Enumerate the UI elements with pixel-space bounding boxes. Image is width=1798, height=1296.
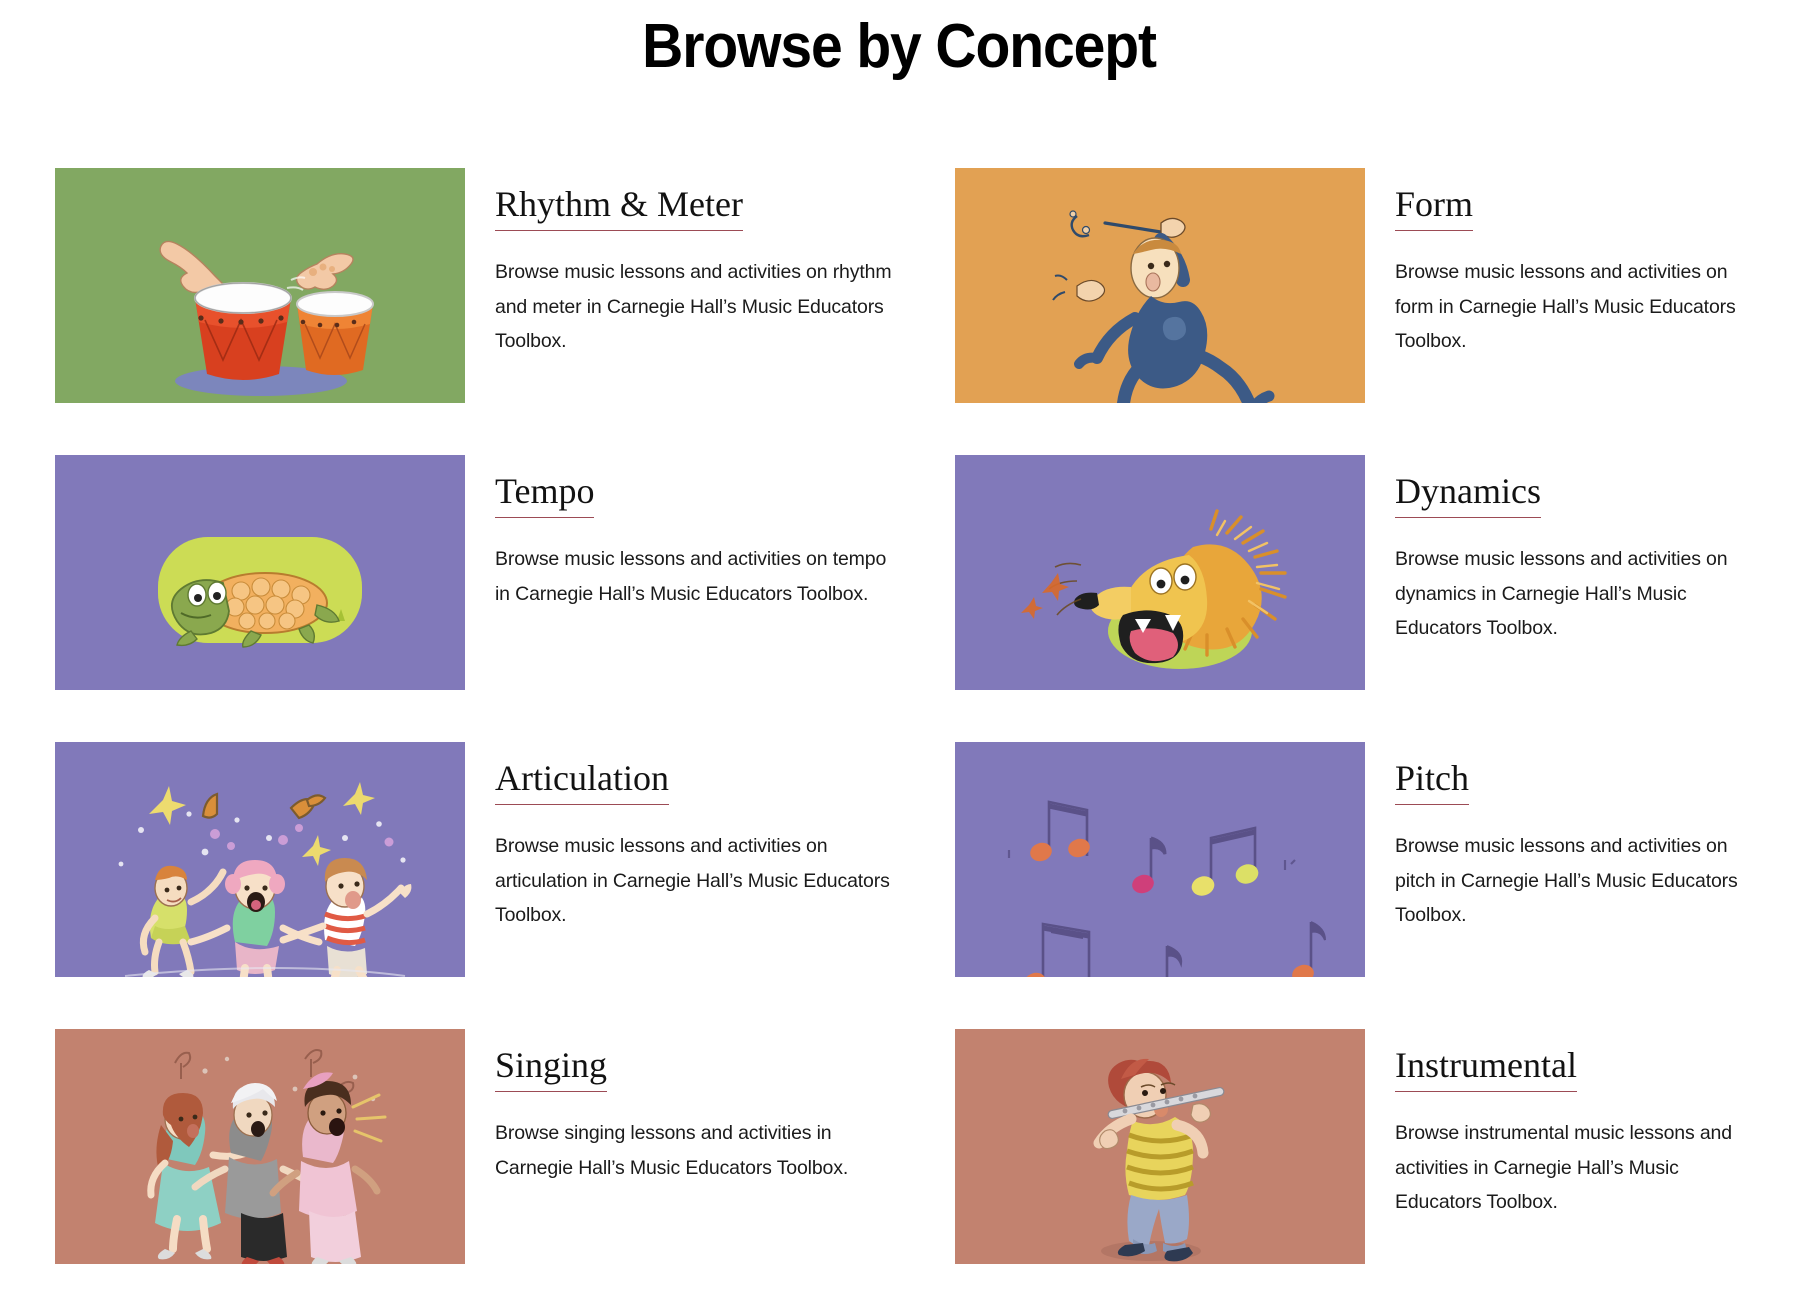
concept-description-articulation: Browse music lessons and activities on a… xyxy=(495,829,905,933)
page-title: Browse by Concept xyxy=(72,0,1726,78)
concept-text-instrumental: Instrumental Browse instrumental music l… xyxy=(1365,1029,1755,1220)
concept-thumbnail-tempo[interactable] xyxy=(55,455,465,690)
concept-thumbnail-dynamics[interactable] xyxy=(955,455,1365,690)
concept-title-link-instrumental[interactable]: Instrumental xyxy=(1395,1047,1577,1092)
concept-thumbnail-singing[interactable] xyxy=(55,1029,465,1264)
concept-title-link-form[interactable]: Form xyxy=(1395,186,1473,231)
concept-text-singing: Singing Browse singing lessons and activ… xyxy=(465,1029,905,1185)
concept-card-singing[interactable]: Singing Browse singing lessons and activ… xyxy=(55,1029,955,1296)
concept-text-tempo: Tempo Browse music lessons and activitie… xyxy=(465,455,905,611)
concept-title-link-tempo[interactable]: Tempo xyxy=(495,473,594,518)
concept-title-link-rhythm-meter[interactable]: Rhythm & Meter xyxy=(495,186,743,231)
concept-title-link-articulation[interactable]: Articulation xyxy=(495,760,669,805)
concept-card-form[interactable]: Form Browse music lessons and activities… xyxy=(955,168,1755,455)
concept-text-rhythm-meter: Rhythm & Meter Browse music lessons and … xyxy=(465,168,905,359)
concept-description-singing: Browse singing lessons and activities in… xyxy=(495,1116,905,1185)
turtle-on-grass-icon xyxy=(158,537,362,647)
browse-by-concept-page: Browse by Concept xyxy=(0,0,1798,1296)
concept-text-dynamics: Dynamics Browse music lessons and activi… xyxy=(1365,455,1755,646)
concept-card-articulation[interactable]: Articulation Browse music lessons and ac… xyxy=(55,742,955,1029)
concept-card-tempo[interactable]: Tempo Browse music lessons and activitie… xyxy=(55,455,955,742)
concept-text-articulation: Articulation Browse music lessons and ac… xyxy=(465,742,905,933)
concept-description-rhythm-meter: Browse music lessons and activities on r… xyxy=(495,255,905,359)
concept-grid: Rhythm & Meter Browse music lessons and … xyxy=(55,168,1755,1296)
concept-text-form: Form Browse music lessons and activities… xyxy=(1365,168,1755,359)
concept-card-instrumental[interactable]: Instrumental Browse instrumental music l… xyxy=(955,1029,1755,1296)
concept-description-dynamics: Browse music lessons and activities on d… xyxy=(1395,542,1755,646)
concept-description-instrumental: Browse instrumental music lessons and ac… xyxy=(1395,1116,1755,1220)
concept-card-dynamics[interactable]: Dynamics Browse music lessons and activi… xyxy=(955,455,1755,742)
concept-title-link-dynamics[interactable]: Dynamics xyxy=(1395,473,1541,518)
concept-card-pitch[interactable]: Pitch Browse music lessons and activitie… xyxy=(955,742,1755,1029)
concept-text-pitch: Pitch Browse music lessons and activitie… xyxy=(1365,742,1755,933)
concept-description-pitch: Browse music lessons and activities on p… xyxy=(1395,829,1755,933)
concept-thumbnail-rhythm-meter[interactable] xyxy=(55,168,465,403)
concept-thumbnail-instrumental[interactable] xyxy=(955,1029,1365,1264)
concept-title-link-pitch[interactable]: Pitch xyxy=(1395,760,1469,805)
concept-thumbnail-form[interactable] xyxy=(955,168,1365,403)
concept-thumbnail-pitch[interactable] xyxy=(955,742,1365,977)
concept-title-link-singing[interactable]: Singing xyxy=(495,1047,607,1092)
concept-description-tempo: Browse music lessons and activities on t… xyxy=(495,542,905,611)
concept-thumbnail-articulation[interactable] xyxy=(55,742,465,977)
concept-description-form: Browse music lessons and activities on f… xyxy=(1395,255,1755,359)
concept-card-rhythm-meter[interactable]: Rhythm & Meter Browse music lessons and … xyxy=(55,168,955,455)
